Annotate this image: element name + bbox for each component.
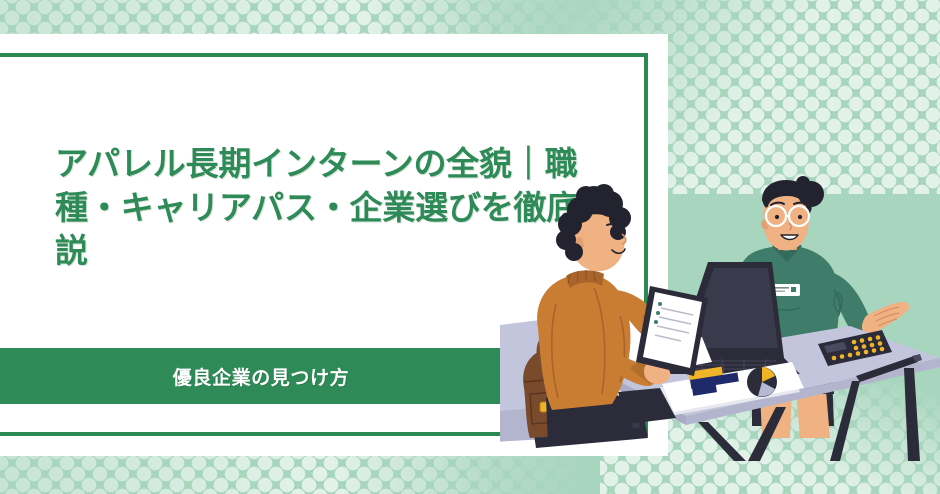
open-hand — [862, 302, 909, 334]
subtitle-banner: 優良企業の見つけ方 — [0, 348, 502, 404]
name-badge — [772, 284, 800, 296]
hero-banner: アパレル長期インターンの全貌｜職種・キャリアパス・企業選びを徹底解説 優良企業の… — [0, 0, 940, 494]
man-head — [556, 184, 631, 271]
two-people-meeting-illustration — [500, 176, 940, 461]
woman-head — [761, 176, 824, 250]
subtitle-banner-label: 優良企業の見つけ方 — [113, 363, 349, 390]
